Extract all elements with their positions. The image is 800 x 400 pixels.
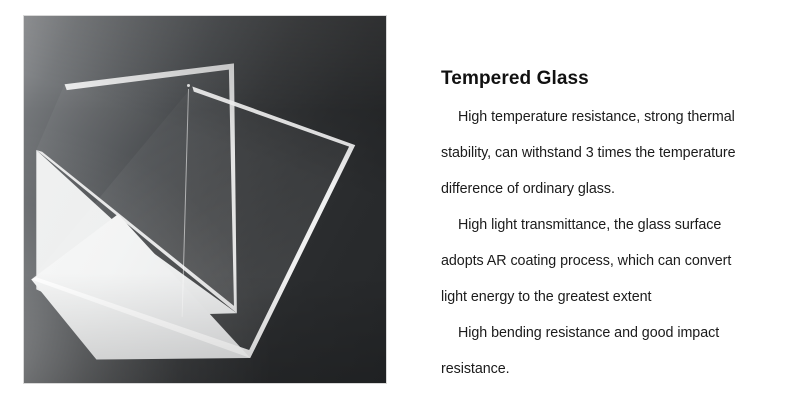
product-description-panel: Tempered Glass High temperature resistan… (441, 0, 786, 400)
description-line: High light transmittance, the glass surf… (441, 207, 786, 243)
photo-vignette (24, 16, 386, 383)
description-line: High temperature resistance, strong ther… (441, 99, 786, 135)
product-title: Tempered Glass (441, 68, 589, 90)
product-description-body: High temperature resistance, strong ther… (441, 99, 786, 387)
product-photo (23, 15, 387, 384)
description-line: adopts AR coating process, which can con… (441, 243, 786, 279)
description-line: resistance. (441, 351, 786, 387)
product-description-page: Tempered Glass High temperature resistan… (0, 0, 800, 400)
description-line: difference of ordinary glass. (441, 171, 786, 207)
description-line: stability, can withstand 3 times the tem… (441, 135, 786, 171)
description-line: light energy to the greatest extent (441, 279, 786, 315)
description-line: High bending resistance and good impact (441, 315, 786, 351)
